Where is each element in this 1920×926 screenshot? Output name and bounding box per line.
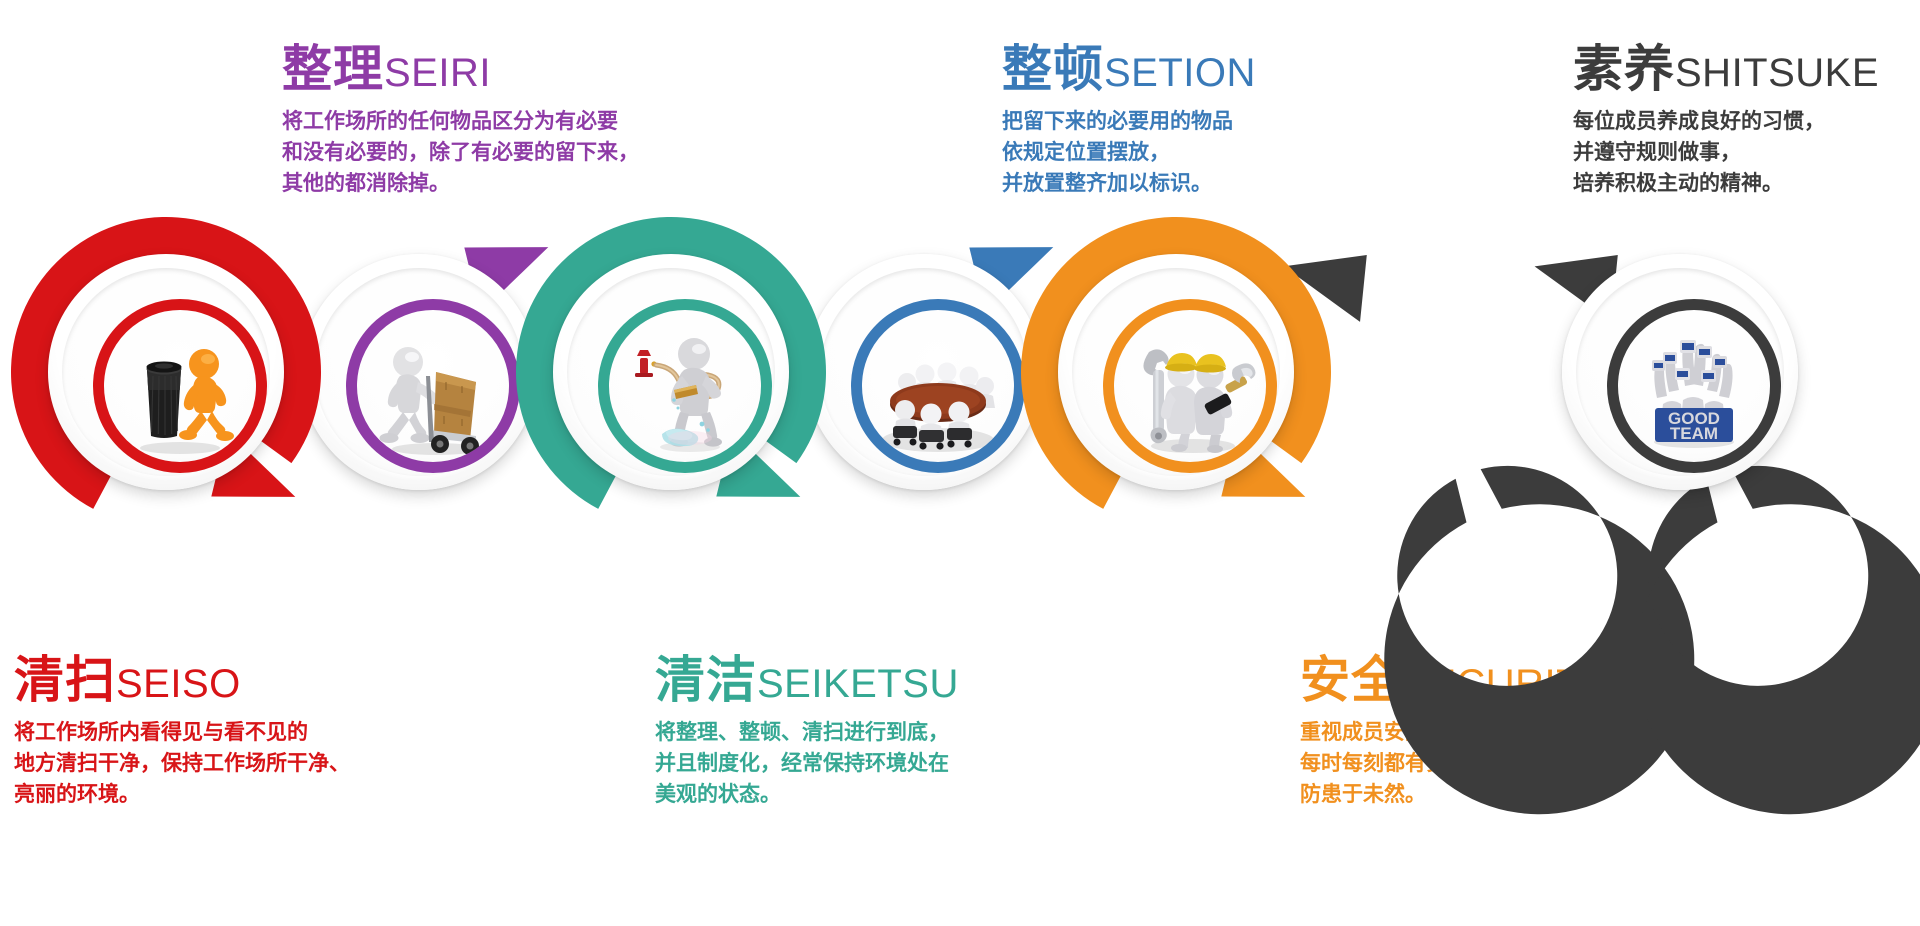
- cycle-node-security[interactable]: [1016, 212, 1336, 532]
- desc-line: 并遵守规则做事，: [1573, 138, 1879, 169]
- node-disc: [301, 254, 537, 490]
- node-disc: [806, 254, 1042, 490]
- step-cn-seiketsu: 清洁: [655, 652, 757, 708]
- node-disc-inner: [315, 268, 523, 476]
- two-workers-wrench-hammer-icon: [1114, 310, 1266, 462]
- step-desc-seiri: 将工作场所的任何物品区分为有必要 和没有必要的，除了有必要的留下来， 其他的都消…: [282, 107, 639, 200]
- step-label-seiketsu: 清洁SEIKETSU 将整理、整顿、清扫进行到底， 并且制度化，经常保持环境处在…: [655, 655, 959, 811]
- meeting-round-table-icon: [862, 310, 1014, 462]
- step-heading-seiketsu: 清洁SEIKETSU: [655, 655, 959, 705]
- step-desc-seiketsu: 将整理、整顿、清扫进行到底， 并且制度化，经常保持环境处在 美观的状态。: [655, 718, 959, 811]
- step-label-seiso: 清扫SEISO 将工作场所内看得见与看不见的 地方清扫干净，保持工作场所干净、 …: [14, 655, 350, 811]
- desc-line: 将整理、整顿、清扫进行到底，: [655, 718, 959, 749]
- node-color-ring-red: [93, 299, 267, 473]
- desc-line: 将工作场所内看得见与看不见的: [14, 718, 350, 749]
- step-romaji-seiso: SEISO: [116, 662, 241, 706]
- node-disc: GOOD TEAM: [1562, 254, 1798, 490]
- node-color-ring-teal: [598, 299, 772, 473]
- desc-line: 美观的状态。: [655, 780, 959, 811]
- desc-line: 并且制度化，经常保持环境处在: [655, 749, 959, 780]
- step-label-seiri: 整理SEIRI 将工作场所的任何物品区分为有必要 和没有必要的，除了有必要的留下…: [282, 44, 639, 200]
- step-romaji-setion: SETION: [1104, 51, 1256, 95]
- node-color-ring-gray: GOOD TEAM: [1607, 299, 1781, 473]
- step-cn-shitsuke: 素养: [1573, 41, 1675, 97]
- step-heading-setion: 整顿SETION: [1002, 44, 1256, 94]
- node-disc: [48, 254, 284, 490]
- node-disc-inner: [820, 268, 1028, 476]
- step-label-shitsuke: 素养SHITSUKE 每位成员养成良好的习惯， 并遵守规则做事， 培养积极主动的…: [1573, 44, 1879, 200]
- cycle-node-seiketsu[interactable]: [511, 212, 831, 532]
- desc-line: 将工作场所的任何物品区分为有必要: [282, 107, 639, 138]
- step-romaji-seiketsu: SEIKETSU: [757, 662, 959, 706]
- step-romaji-shitsuke: SHITSUKE: [1675, 51, 1879, 95]
- person-pushing-hand-truck-boxes-icon: [357, 310, 509, 462]
- step-heading-seiso: 清扫SEISO: [14, 655, 350, 705]
- node-disc-inner: [62, 268, 270, 476]
- desc-line: 每位成员养成良好的习惯，: [1573, 107, 1879, 138]
- desc-line: 地方清扫干净，保持工作场所干净、: [14, 749, 350, 780]
- desc-line: 依规定位置摆放，: [1002, 138, 1256, 169]
- node-disc-inner: [567, 268, 775, 476]
- node-disc-inner: [1072, 268, 1280, 476]
- step-desc-seiso: 将工作场所内看得见与看不见的 地方清扫干净，保持工作场所干净、 亮丽的环境。: [14, 718, 350, 811]
- step-heading-seiri: 整理SEIRI: [282, 44, 639, 94]
- node-disc: [1058, 254, 1294, 490]
- person-carrying-trash-can-icon: [104, 310, 256, 462]
- desc-line: 其他的都消除掉。: [282, 169, 639, 200]
- step-label-setion: 整顿SETION 把留下来的必要用的物品 依规定位置摆放， 并放置整齐加以标识。: [1002, 44, 1256, 200]
- step-desc-setion: 把留下来的必要用的物品 依规定位置摆放， 并放置整齐加以标识。: [1002, 107, 1256, 200]
- person-washing-with-hose-icon: [609, 310, 761, 462]
- node-disc-inner: GOOD TEAM: [1576, 268, 1784, 476]
- step-heading-shitsuke: 素养SHITSUKE: [1573, 44, 1879, 94]
- desc-line: 并放置整齐加以标识。: [1002, 169, 1256, 200]
- good-team-line2: TEAM: [1670, 424, 1718, 443]
- step-cn-seiso: 清扫: [14, 652, 116, 708]
- node-disc: [553, 254, 789, 490]
- step-cn-setion: 整顿: [1002, 41, 1104, 97]
- cycle-node-shitsuke[interactable]: GOOD TEAM: [1520, 212, 1840, 532]
- node-color-ring-blue: [851, 299, 1025, 473]
- node-color-ring-orange: [1103, 299, 1277, 473]
- cycle-node-seiso[interactable]: [6, 212, 326, 532]
- step-romaji-seiri: SEIRI: [384, 51, 491, 95]
- desc-line: 亮丽的环境。: [14, 780, 350, 811]
- desc-line: 培养积极主动的精神。: [1573, 169, 1879, 200]
- step-desc-shitsuke: 每位成员养成良好的习惯， 并遵守规则做事， 培养积极主动的精神。: [1573, 107, 1879, 200]
- good-team-crowd-icon: GOOD TEAM: [1618, 310, 1770, 462]
- desc-line: 把留下来的必要用的物品: [1002, 107, 1256, 138]
- desc-line: 和没有必要的，除了有必要的留下来，: [282, 138, 639, 169]
- node-color-ring-purple: [346, 299, 520, 473]
- step-cn-seiri: 整理: [282, 41, 384, 97]
- 5s-cycle-infographic: 整理SEIRI 将工作场所的任何物品区分为有必要 和没有必要的，除了有必要的留下…: [0, 0, 1920, 926]
